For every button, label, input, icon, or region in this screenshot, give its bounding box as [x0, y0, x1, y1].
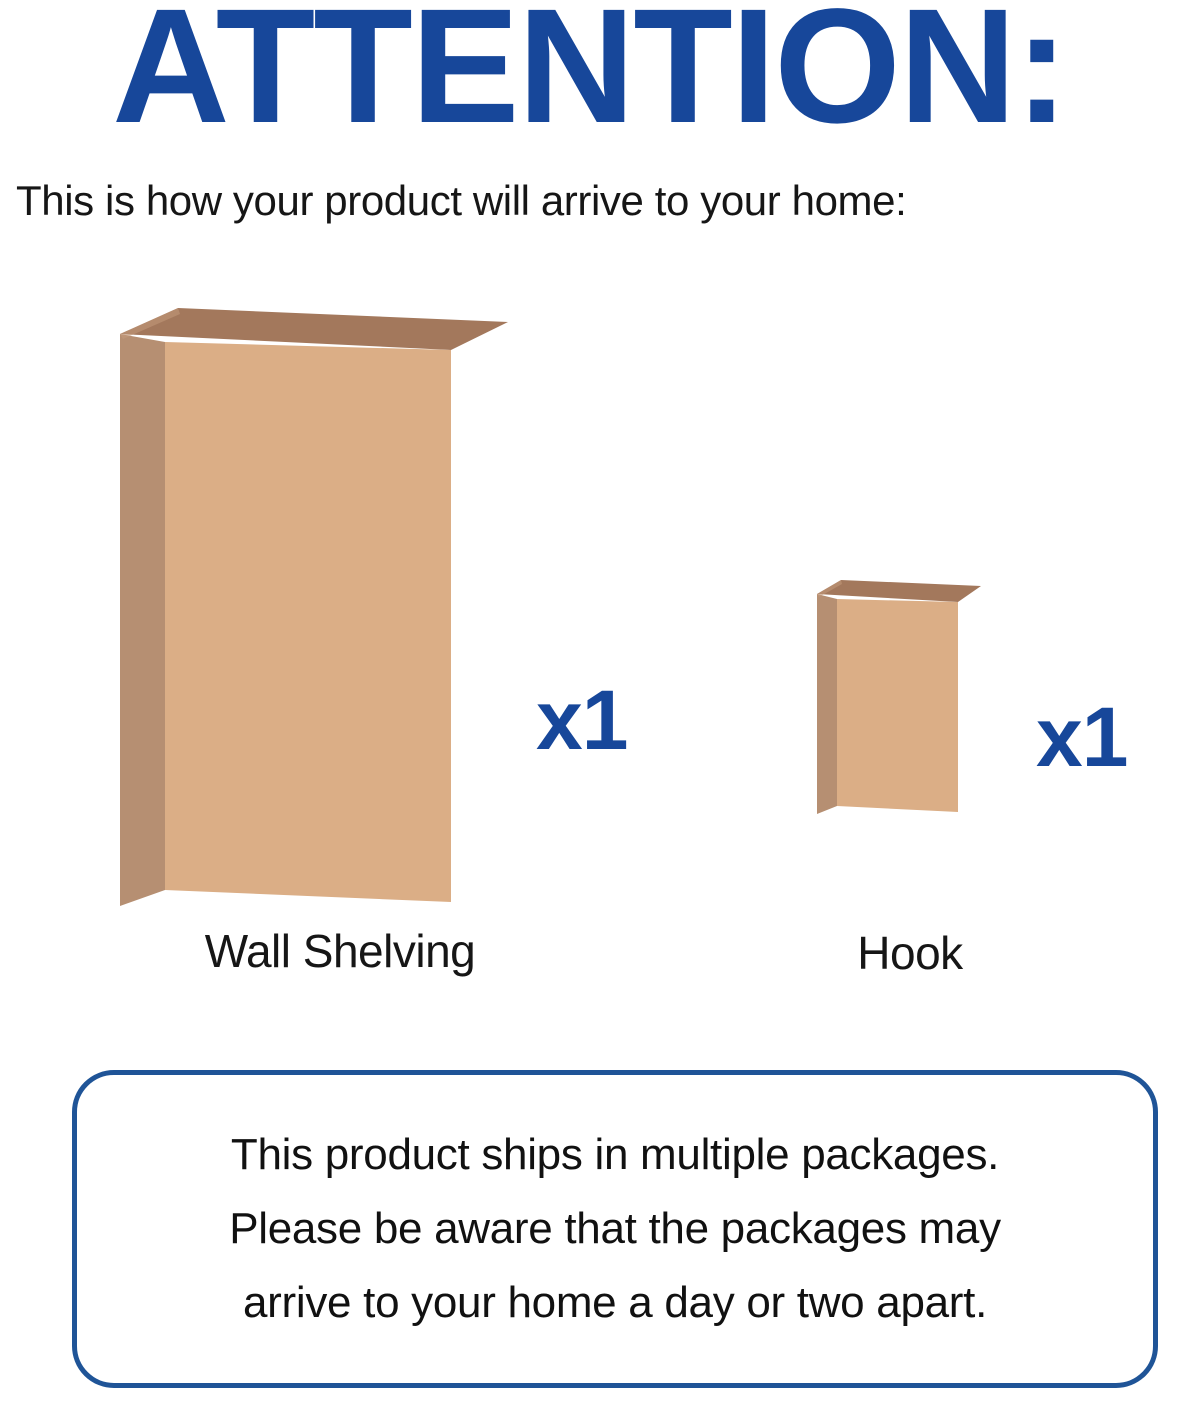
notice-line-2: Please be aware that the packages may [229, 1207, 1001, 1251]
cardboard-box-icon [118, 306, 518, 916]
package-name-wall-shelving: Wall Shelving [0, 928, 680, 974]
quantity-label-hook: x1 [1036, 695, 1127, 779]
package-name-hook: Hook [700, 930, 1120, 976]
notice-line-3: arrive to your home a day or two apart. [243, 1281, 987, 1325]
notice-line-1: This product ships in multiple packages. [231, 1133, 999, 1177]
package-box-wall-shelving [118, 306, 518, 916]
quantity-label-wall-shelving: x1 [536, 678, 627, 762]
page-subtitle: This is how your product will arrive to … [16, 178, 906, 224]
cardboard-box-icon [815, 578, 985, 818]
shipping-notice-box: This product ships in multiple packages.… [72, 1070, 1158, 1388]
package-box-hook [815, 578, 985, 818]
page-title: ATTENTION: [0, 0, 1179, 147]
